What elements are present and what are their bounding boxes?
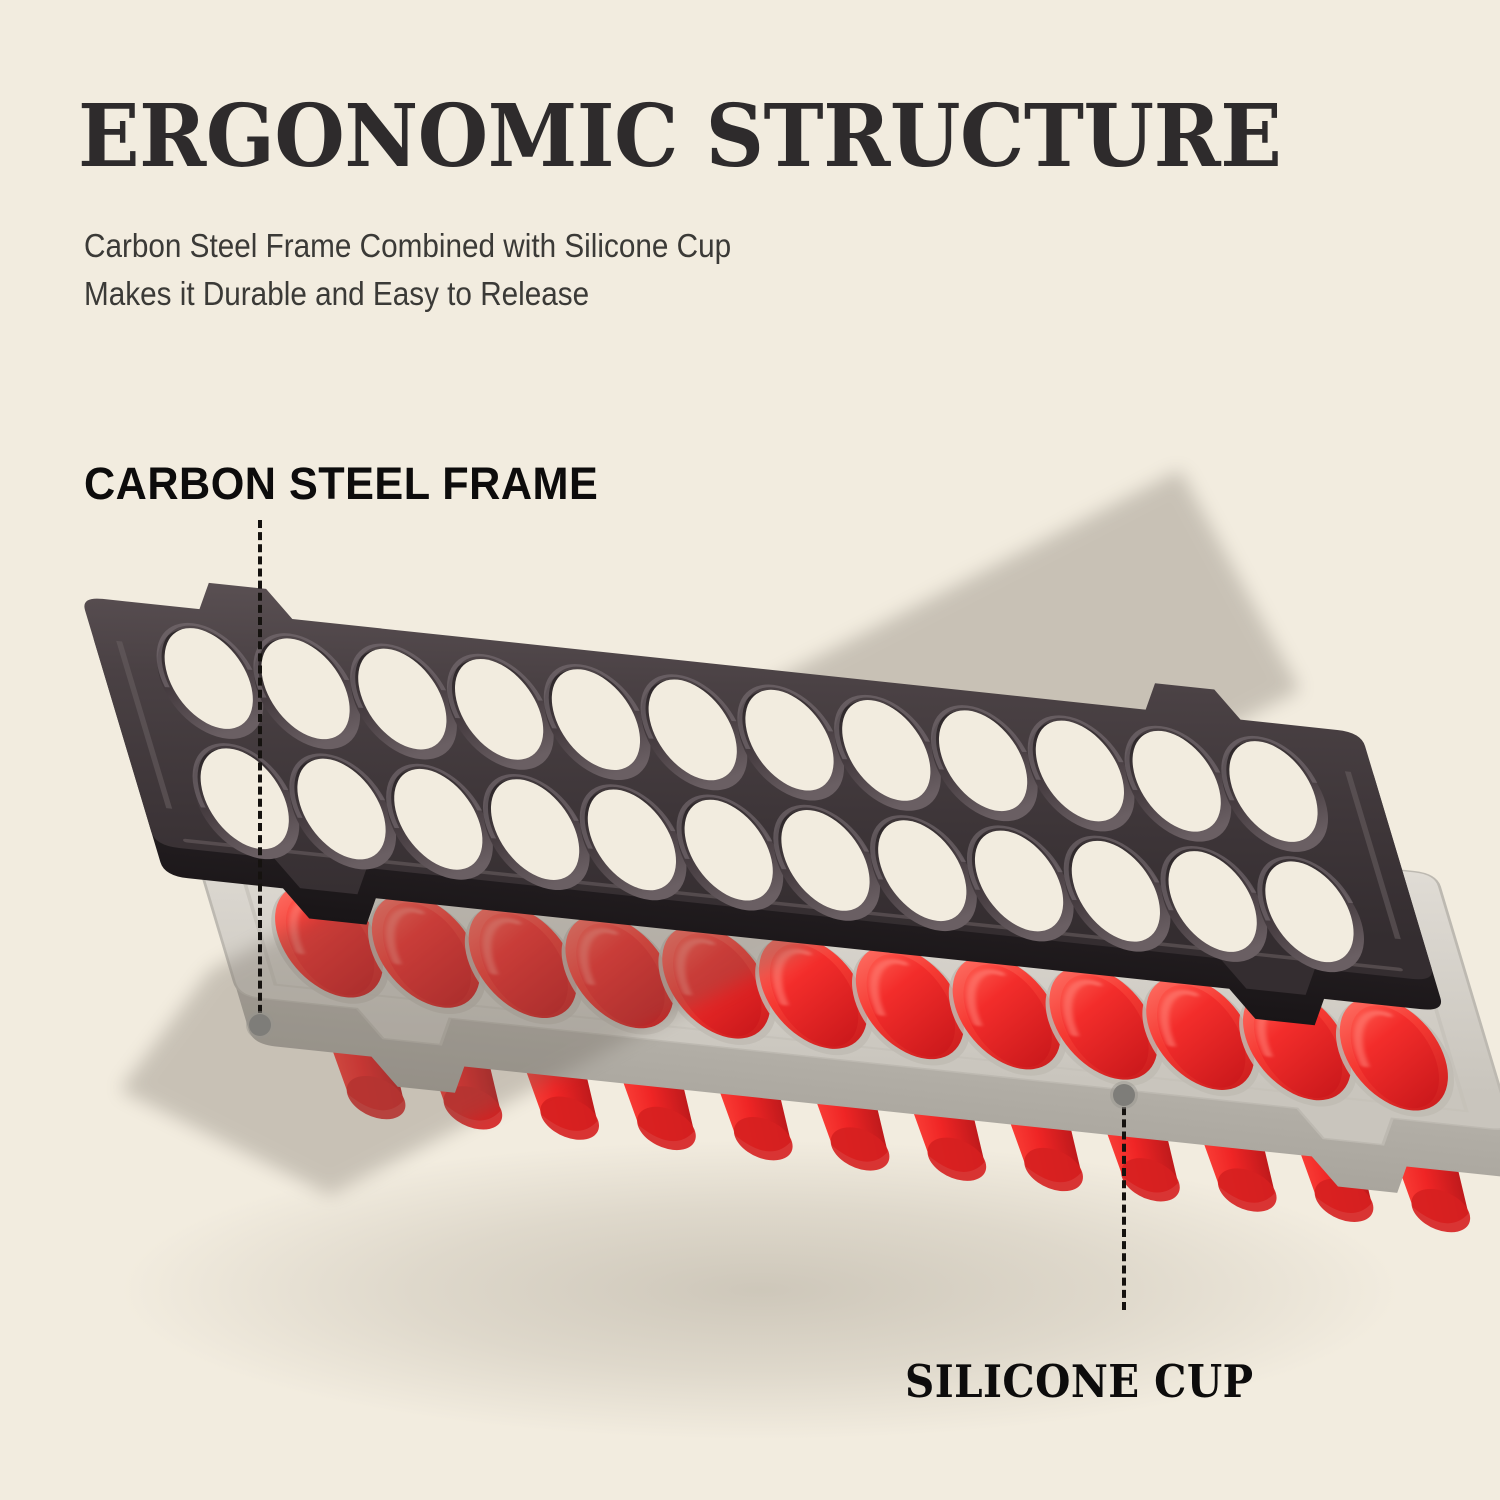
page-title: ERGONOMIC STRUCTURE: [78, 94, 1281, 180]
page-subtitle: Carbon Steel Frame Combined with Silicon…: [84, 222, 731, 318]
leader-dashed-line: [1122, 1095, 1126, 1310]
infographic-canvas: ERGONOMIC STRUCTURE Carbon Steel Frame C…: [0, 0, 1500, 1500]
leader-end-dot: [1113, 1084, 1135, 1106]
page-subtitle-line-1: Carbon Steel Frame Combined with Silicon…: [84, 222, 731, 270]
leader-end-dot: [249, 1014, 271, 1036]
callout-label-carbon-steel-frame: CARBON STEEL FRAME: [84, 458, 598, 510]
leader-dashed-line: [258, 520, 262, 1025]
page-subtitle-line-2: Makes it Durable and Easy to Release: [84, 270, 731, 318]
callout-label-silicone-cup: SILICONE CUP: [905, 1355, 1254, 1408]
